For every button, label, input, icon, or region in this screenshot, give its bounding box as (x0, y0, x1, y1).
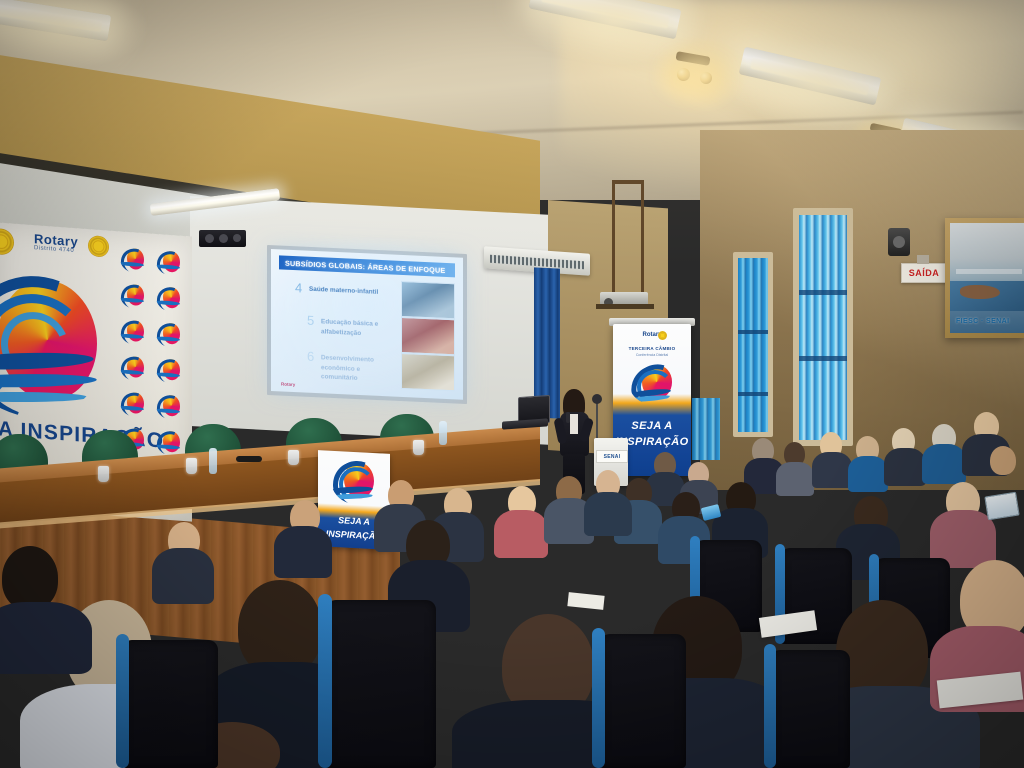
photo-vignette (0, 0, 1024, 768)
auditorium-photo: Rotary Distrito 4740 A A INSPIRAÇÃO (0, 0, 1024, 768)
